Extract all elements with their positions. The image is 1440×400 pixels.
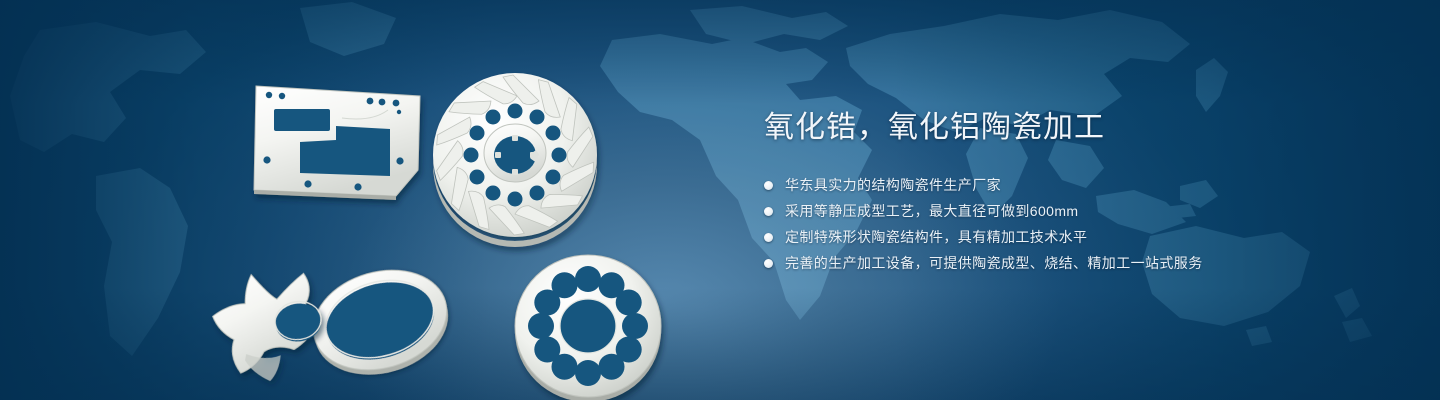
bullet-dot-icon <box>764 207 773 216</box>
ceramic-mounting-plate <box>254 86 420 200</box>
promo-banner: 氧化锆，氧化铝陶瓷加工 华东具实力的结构陶瓷件生产厂家 采用等静压成型工艺，最大… <box>0 0 1440 400</box>
feature-text: 采用等静压成型工艺，最大直径可做到600mm <box>785 200 1078 222</box>
list-item: 定制特殊形状陶瓷结构件，具有精加工技术水平 <box>764 226 1384 248</box>
feature-text: 定制特殊形状陶瓷结构件，具有精加工技术水平 <box>785 226 1087 248</box>
product-photo-cluster <box>230 30 700 380</box>
list-item: 华东具实力的结构陶瓷件生产厂家 <box>764 174 1384 196</box>
ceramic-perforated-disc <box>515 255 661 400</box>
bullet-dot-icon <box>764 233 773 242</box>
list-item: 完善的生产加工设备，可提供陶瓷成型、烧结、精加工一站式服务 <box>764 252 1384 274</box>
feature-text: 完善的生产加工设备，可提供陶瓷成型、烧结、精加工一站式服务 <box>785 252 1203 274</box>
banner-copy: 氧化锆，氧化铝陶瓷加工 华东具实力的结构陶瓷件生产厂家 采用等静压成型工艺，最大… <box>764 108 1384 278</box>
bullet-dot-icon <box>764 259 773 268</box>
bullet-dot-icon <box>764 181 773 190</box>
feature-list: 华东具实力的结构陶瓷件生产厂家 采用等静压成型工艺，最大直径可做到600mm 定… <box>764 174 1384 274</box>
feature-text: 华东具实力的结构陶瓷件生产厂家 <box>785 174 1001 196</box>
ceramic-ring-washer <box>301 255 460 390</box>
page-title: 氧化锆，氧化铝陶瓷加工 <box>764 108 1384 148</box>
ceramic-impeller-wheel <box>432 72 598 247</box>
list-item: 采用等静压成型工艺，最大直径可做到600mm <box>764 200 1384 222</box>
